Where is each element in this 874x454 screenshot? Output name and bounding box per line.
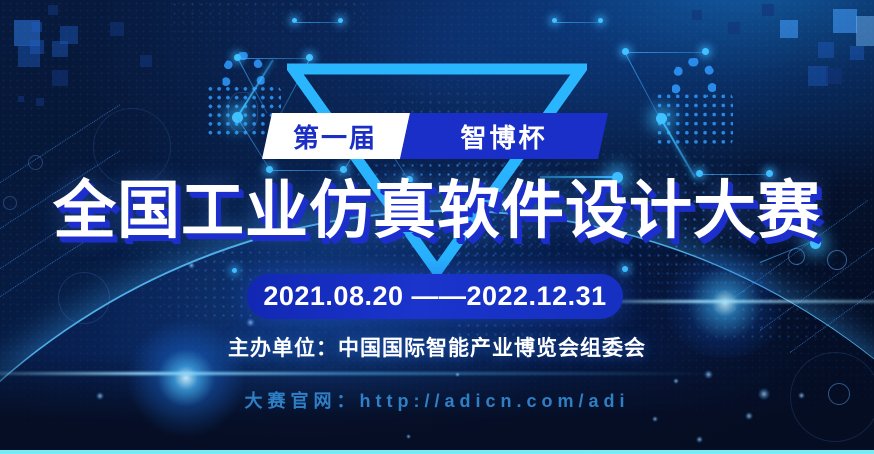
date-range-badge: 2021.08.20 ——2022.12.31 [247,274,623,319]
decor-ring [28,155,43,170]
bokeh-dot [652,416,658,422]
date-range-label: 2021.08.20 ——2022.12.31 [263,281,606,312]
page-title: 全国工业仿真软件设计大赛 [0,176,874,246]
decor-ring [58,272,110,324]
bokeh-dot [406,434,411,439]
promo-banner: 第一届 智博杯 全国工业仿真软件设计大赛 2021.08.20 ——2022.1… [0,0,874,454]
bottom-accent-rule [0,450,874,454]
official-website-line[interactable]: 大赛官网：http://adicn.com/adi [0,387,874,413]
bokeh-dot [673,378,679,384]
ribbon-edition-label: 第一届 [293,118,377,155]
bokeh-dot [696,436,703,443]
bokeh-dot [188,262,195,269]
decor-ring [93,108,171,186]
ribbon-cup-badge: 智博杯 [400,113,608,159]
bokeh-dot [745,412,753,420]
bokeh-dot [246,318,255,327]
decor-ring [827,250,847,270]
decor-ring [788,248,805,265]
decor-ring [228,92,258,132]
ribbon-cup-label: 智博杯 [460,118,547,155]
ribbon-edition-badge: 第一届 [262,113,410,159]
lens-flare-streak [0,372,720,375]
bokeh-dot [455,372,460,377]
bokeh-dot [704,370,713,379]
organizer-line: 主办单位：中国国际智能产业博览会组委会 [0,332,874,362]
